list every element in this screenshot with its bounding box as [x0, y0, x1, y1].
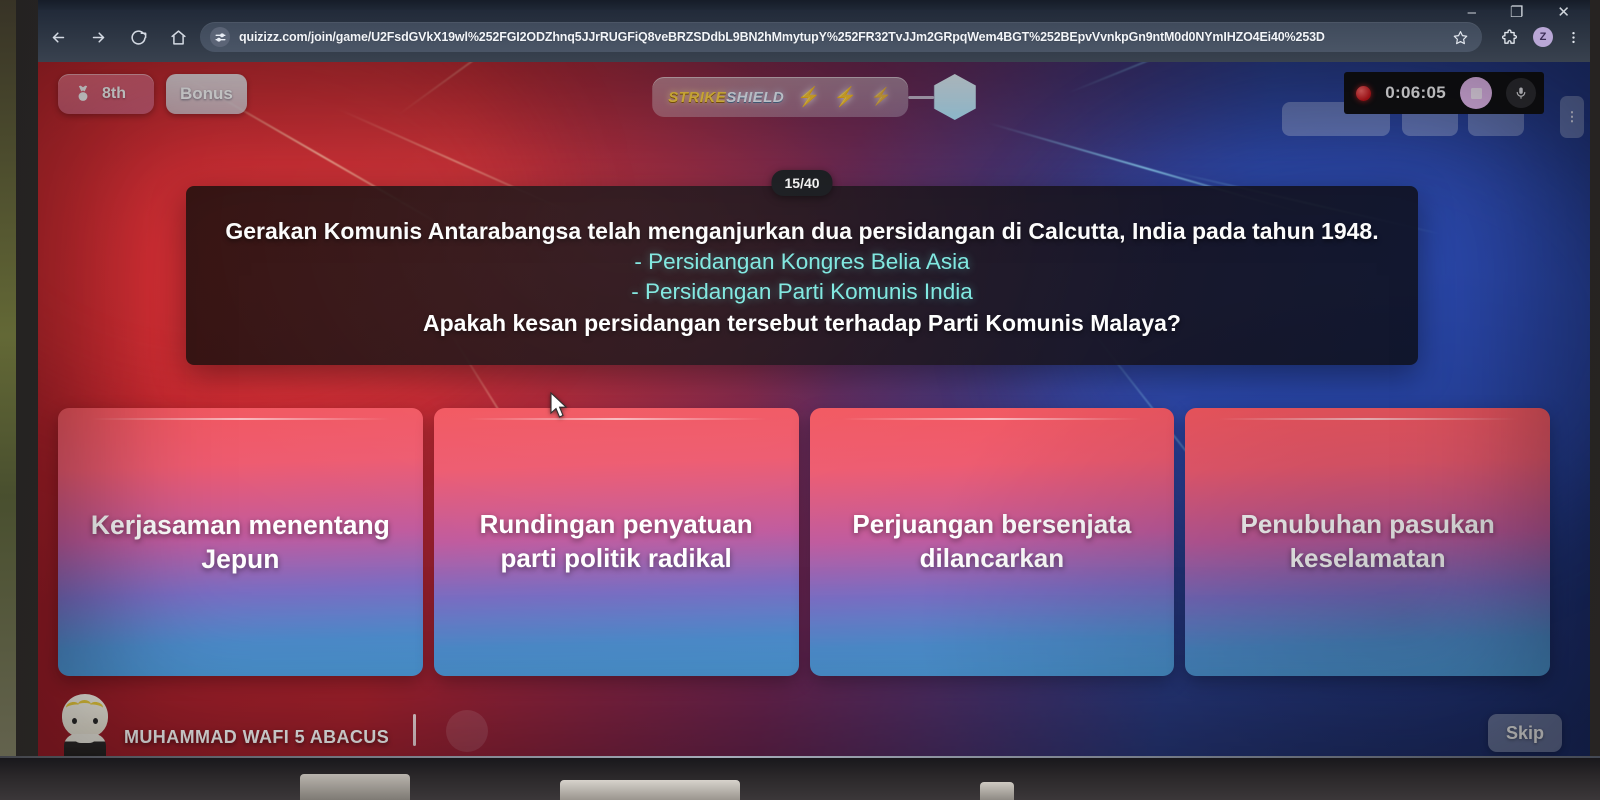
- answer-option-4[interactable]: Penubuhan pasukan keselamatan: [1185, 408, 1550, 676]
- forward-arrow-icon[interactable]: [78, 17, 118, 57]
- question-panel: 15/40 Gerakan Komunis Antarabangsa telah…: [186, 186, 1418, 365]
- answer-option-2[interactable]: Rundingan penyatuan parti politik radika…: [434, 408, 799, 676]
- window-controls: – ❐ ✕: [1404, 0, 1584, 26]
- bezel-nub: [980, 782, 1014, 800]
- question-counter: 15/40: [771, 170, 832, 196]
- browser-toolbar: quizizz.com/join/game/U2FsdGVkX19wl%252F…: [38, 14, 1590, 60]
- player-avatar-icon: [58, 694, 114, 762]
- screen-area: – ❐ ✕: [38, 0, 1590, 768]
- record-dot-icon[interactable]: [1356, 86, 1371, 101]
- player-info: MUHAMMAD WAFI 5 ABACUS: [58, 694, 488, 762]
- answer-options: Kerjasaman menentang Jepun Rundingan pen…: [58, 408, 1550, 676]
- powerup-bar: STRIKESHIELD ⚡ ⚡ ⚡: [652, 74, 976, 120]
- bonus-label: Bonus: [180, 84, 233, 104]
- question-line: Gerakan Komunis Antarabangsa telah menga…: [208, 216, 1396, 247]
- bezel-nub: [300, 774, 410, 800]
- star-icon[interactable]: [1448, 22, 1472, 52]
- lightning-bolt-icon: ⚡: [834, 85, 858, 109]
- lightning-bolt-icon: ⚡: [797, 85, 821, 109]
- answer-label: Perjuangan bersenjata dilancarkan: [828, 508, 1157, 576]
- shield-word: SHIELD: [726, 89, 784, 106]
- microphone-icon[interactable]: [1506, 78, 1536, 108]
- quiz-game-stage: 8th Bonus STRIKESHIELD ⚡ ⚡ ⚡: [38, 62, 1590, 768]
- monitor-photo: – ❐ ✕: [0, 0, 1600, 800]
- answer-option-3[interactable]: Perjuangan bersenjata dilancarkan: [810, 408, 1175, 676]
- medal-icon: [73, 84, 93, 104]
- game-hud: 8th Bonus STRIKESHIELD ⚡ ⚡ ⚡: [38, 62, 1590, 124]
- home-icon[interactable]: [158, 17, 198, 57]
- back-arrow-icon[interactable]: [38, 17, 78, 57]
- url-text: quizizz.com/join/game/U2FsdGVkX19wl%252F…: [239, 30, 1439, 44]
- recorder-more-icon[interactable]: ⋮: [1560, 96, 1584, 138]
- powerup-connector: [908, 96, 934, 99]
- screen-recorder-overlay: 0:06:05: [1344, 72, 1544, 114]
- wall-background: [0, 0, 16, 800]
- footer-divider: [413, 714, 416, 746]
- strike-word: STRIKE: [668, 89, 726, 106]
- stop-square-icon[interactable]: [1460, 77, 1492, 109]
- browser-chrome: – ❐ ✕: [38, 0, 1590, 62]
- rank-badge[interactable]: 8th: [58, 74, 154, 114]
- shield-hex-icon[interactable]: [934, 74, 976, 120]
- skip-button[interactable]: Skip: [1488, 714, 1562, 752]
- bonus-badge[interactable]: Bonus: [166, 74, 247, 114]
- footer-avatar-placeholder: [446, 710, 488, 752]
- browser-tabstrip[interactable]: [38, 0, 1590, 10]
- lightning-bolt-icon: ⚡: [871, 87, 892, 107]
- minimize-icon[interactable]: –: [1468, 5, 1476, 20]
- powerup-pill[interactable]: STRIKESHIELD ⚡ ⚡ ⚡: [652, 77, 908, 117]
- answer-label: Rundingan penyatuan parti politik radika…: [452, 508, 781, 576]
- address-bar[interactable]: quizizz.com/join/game/U2FsdGVkX19wl%252F…: [200, 22, 1482, 52]
- close-icon[interactable]: ✕: [1557, 5, 1570, 20]
- question-line: Apakah kesan persidangan tersebut terhad…: [208, 308, 1396, 339]
- answer-option-1[interactable]: Kerjasaman menentang Jepun: [58, 408, 423, 676]
- question-line: - Persidangan Parti Komunis India: [208, 277, 1396, 307]
- reload-icon[interactable]: [118, 17, 158, 57]
- mouse-cursor: [550, 392, 570, 419]
- bezel-nub: [560, 780, 740, 800]
- maximize-icon[interactable]: ❐: [1510, 5, 1523, 20]
- answer-label: Kerjasaman menentang Jepun: [76, 508, 405, 577]
- game-footer: MUHAMMAD WAFI 5 ABACUS Skip: [38, 676, 1590, 768]
- strike-shield-logo: STRIKESHIELD: [668, 89, 784, 106]
- monitor-bottom-bezel: [0, 756, 1600, 800]
- skip-label: Skip: [1506, 723, 1544, 744]
- rank-label: 8th: [102, 85, 126, 103]
- answer-label: Penubuhan pasukan keselamatan: [1203, 508, 1532, 576]
- profile-initial: Z: [1533, 27, 1553, 47]
- recording-elapsed: 0:06:05: [1385, 83, 1446, 103]
- question-line: - Persidangan Kongres Belia Asia: [208, 247, 1396, 277]
- tune-settings-icon[interactable]: [210, 27, 230, 47]
